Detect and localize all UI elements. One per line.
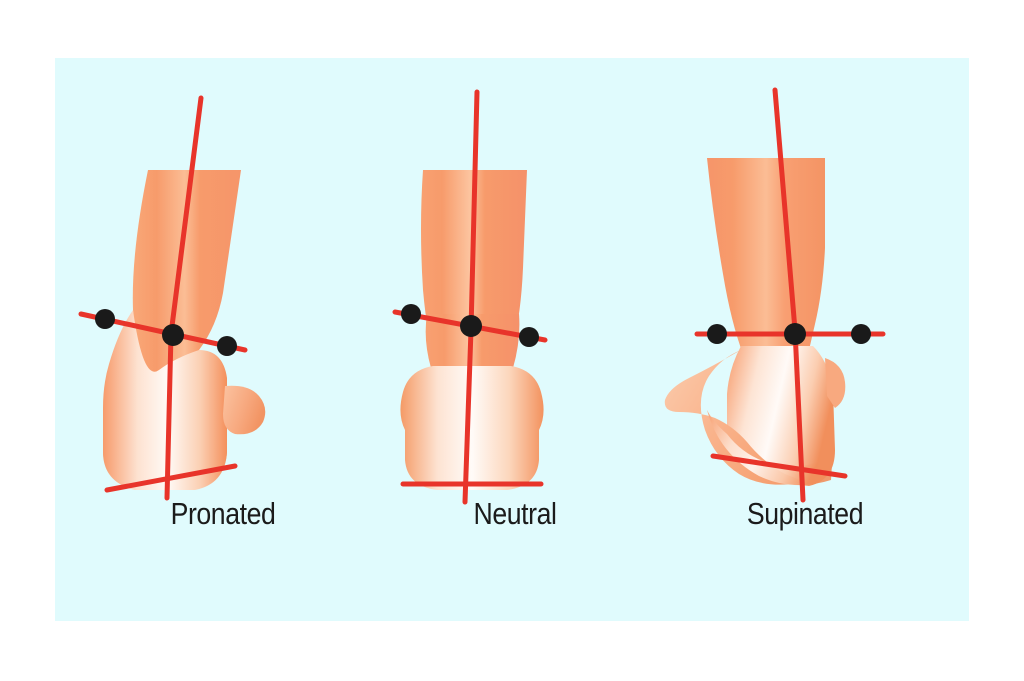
neutral-illustration — [365, 78, 665, 508]
caption-supinated: Supinated — [676, 496, 934, 532]
pronated-marker-medial — [95, 309, 115, 329]
diagram-root: Pronated — [0, 0, 1024, 681]
pronated-marker-lateral — [217, 336, 237, 356]
neutral-marker-medial — [401, 304, 421, 324]
pronated-illustration — [73, 78, 373, 508]
neutral-heel-shape — [400, 366, 543, 490]
neutral-marker-lateral — [519, 327, 539, 347]
supinated-shank-shape — [707, 158, 825, 354]
foot-figure-supinated: Supinated — [655, 78, 955, 578]
pronated-lateral-lobe-shape — [223, 386, 265, 435]
foot-figure-pronated: Pronated — [73, 78, 373, 578]
supinated-marker-medial — [707, 324, 727, 344]
supinated-marker-lateral — [851, 324, 871, 344]
caption-pronated: Pronated — [94, 496, 352, 532]
pronated-marker-center — [162, 324, 184, 346]
caption-neutral: Neutral — [386, 496, 644, 532]
foot-figure-neutral: Neutral — [365, 78, 665, 578]
supinated-illustration — [655, 78, 955, 508]
figures-row: Pronated — [55, 58, 969, 621]
diagram-panel: Pronated — [55, 58, 969, 621]
neutral-marker-center — [460, 315, 482, 337]
supinated-marker-center — [784, 323, 806, 345]
